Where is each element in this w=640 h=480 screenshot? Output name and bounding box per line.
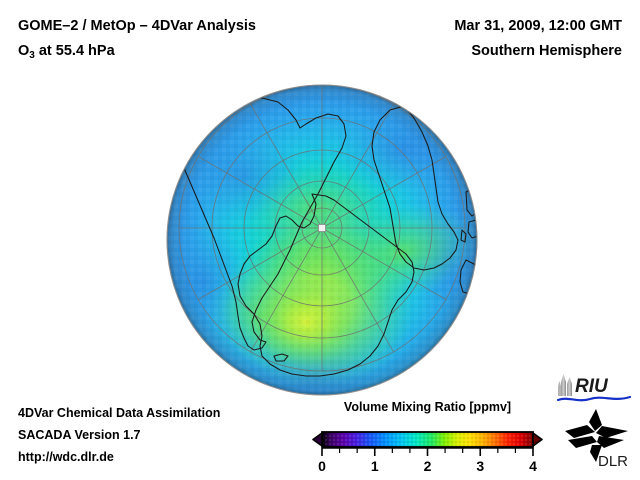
south-pole-marker	[319, 225, 326, 232]
colorbar-tick-label: 2	[424, 458, 432, 474]
colorbar-noise-overlay	[322, 432, 533, 447]
colorbar-block: Volume Mixing Ratio [ppmv] 01234	[305, 400, 550, 475]
globe-map	[166, 84, 478, 396]
colorbar-tick-labels: 01234	[318, 458, 537, 474]
header-right-block: Mar 31, 2009, 12:00 GMT Southern Hemisph…	[342, 14, 622, 64]
colorbar-arrow-left	[313, 433, 322, 446]
species-symbol: O	[18, 43, 29, 59]
colorbar-arrow-right	[533, 433, 542, 446]
colorbar-tick-label: 1	[371, 458, 379, 474]
colorbar-tick-label: 4	[529, 458, 537, 474]
riu-wordmark: RIU	[575, 376, 609, 397]
colorbar-title: Volume Mixing Ratio [ppmv]	[305, 400, 550, 414]
riu-wave-icon	[558, 397, 630, 400]
hemisphere-label: Southern Hemisphere	[342, 39, 622, 64]
colorbar-tick-label: 0	[318, 458, 326, 474]
riu-logo: RIU	[556, 372, 632, 406]
riu-tower-icon	[558, 374, 572, 396]
footer-left-block: 4DVar Chemical Data Assimilation SACADA …	[18, 402, 220, 468]
colorbar-axis	[322, 448, 533, 456]
colorbar-tick-label: 3	[476, 458, 484, 474]
dlr-logo: DLR	[562, 408, 632, 470]
project-description: 4DVar Chemical Data Assimilation	[18, 402, 220, 424]
dlr-wordmark: DLR	[598, 453, 628, 470]
species-subscript: 3	[29, 50, 35, 61]
website-link[interactable]: http://wdc.dlr.de	[18, 446, 220, 468]
timestamp-label: Mar 31, 2009, 12:00 GMT	[342, 14, 622, 39]
version-label: SACADA Version 1.7	[18, 424, 220, 446]
species-level-text: at 55.4 hPa	[35, 43, 115, 59]
